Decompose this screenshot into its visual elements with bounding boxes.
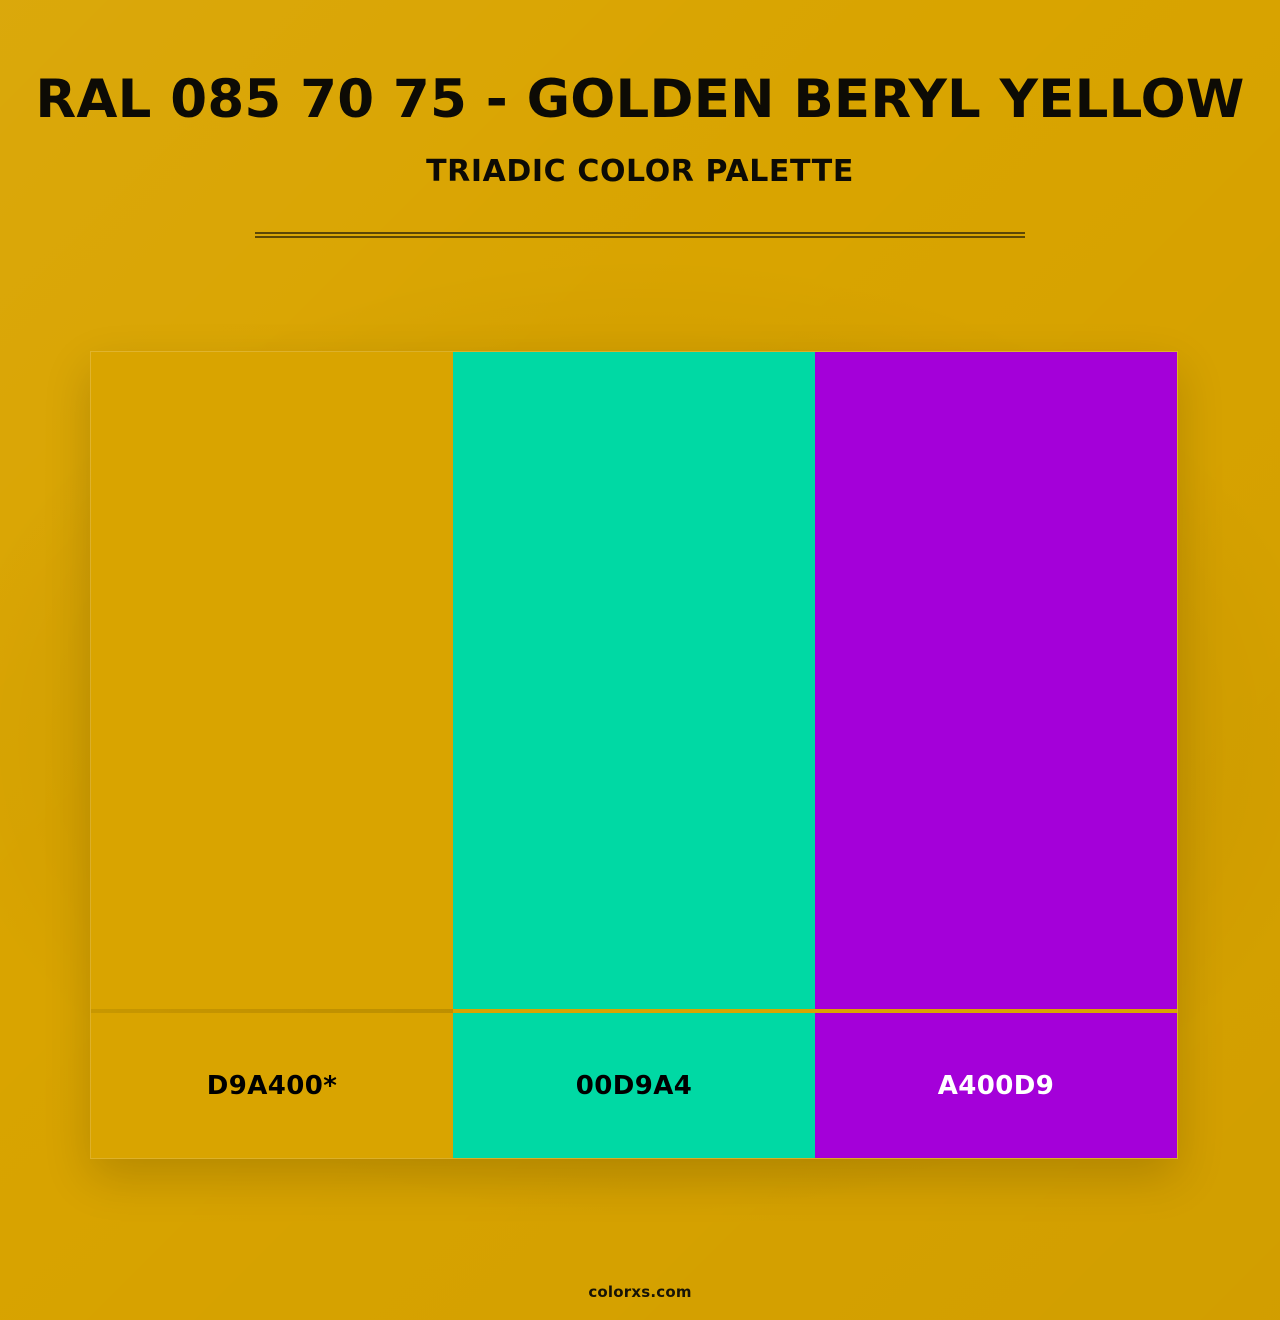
swatch-hex-label-2: 00D9A4	[576, 1073, 692, 1099]
divider-line-top	[255, 232, 1025, 234]
swatch-label-band-1: D9A400*	[91, 1013, 453, 1158]
page-subtitle: TRIADIC COLOR PALETTE	[0, 129, 1280, 188]
swatch-color-block-1[interactable]	[91, 352, 453, 1009]
swatch-column-3[interactable]: A400D9	[815, 352, 1177, 1158]
swatch-hex-label-1: D9A400*	[207, 1073, 337, 1099]
swatch-column-2[interactable]: 00D9A4	[453, 352, 815, 1158]
swatch-color-block-3[interactable]	[815, 352, 1177, 1009]
site-credit: colorxs.com	[588, 1283, 691, 1301]
color-palette-page: RAL 085 70 75 - GOLDEN BERYL YELLOW TRIA…	[0, 0, 1280, 1320]
swatch-label-band-2: 00D9A4	[453, 1013, 815, 1158]
divider-line-bottom	[255, 236, 1025, 238]
page-title: RAL 085 70 75 - GOLDEN BERYL YELLOW	[0, 0, 1280, 129]
header-divider	[255, 232, 1025, 238]
swatch-label-band-3: A400D9	[815, 1013, 1177, 1158]
swatch-hex-label-3: A400D9	[938, 1073, 1054, 1099]
footer: colorxs.com	[0, 1282, 1280, 1301]
palette-card: D9A400* 00D9A4 A400D9	[90, 351, 1178, 1159]
swatch-color-block-2[interactable]	[453, 352, 815, 1009]
header: RAL 085 70 75 - GOLDEN BERYL YELLOW TRIA…	[0, 0, 1280, 188]
swatch-column-1[interactable]: D9A400*	[91, 352, 453, 1158]
